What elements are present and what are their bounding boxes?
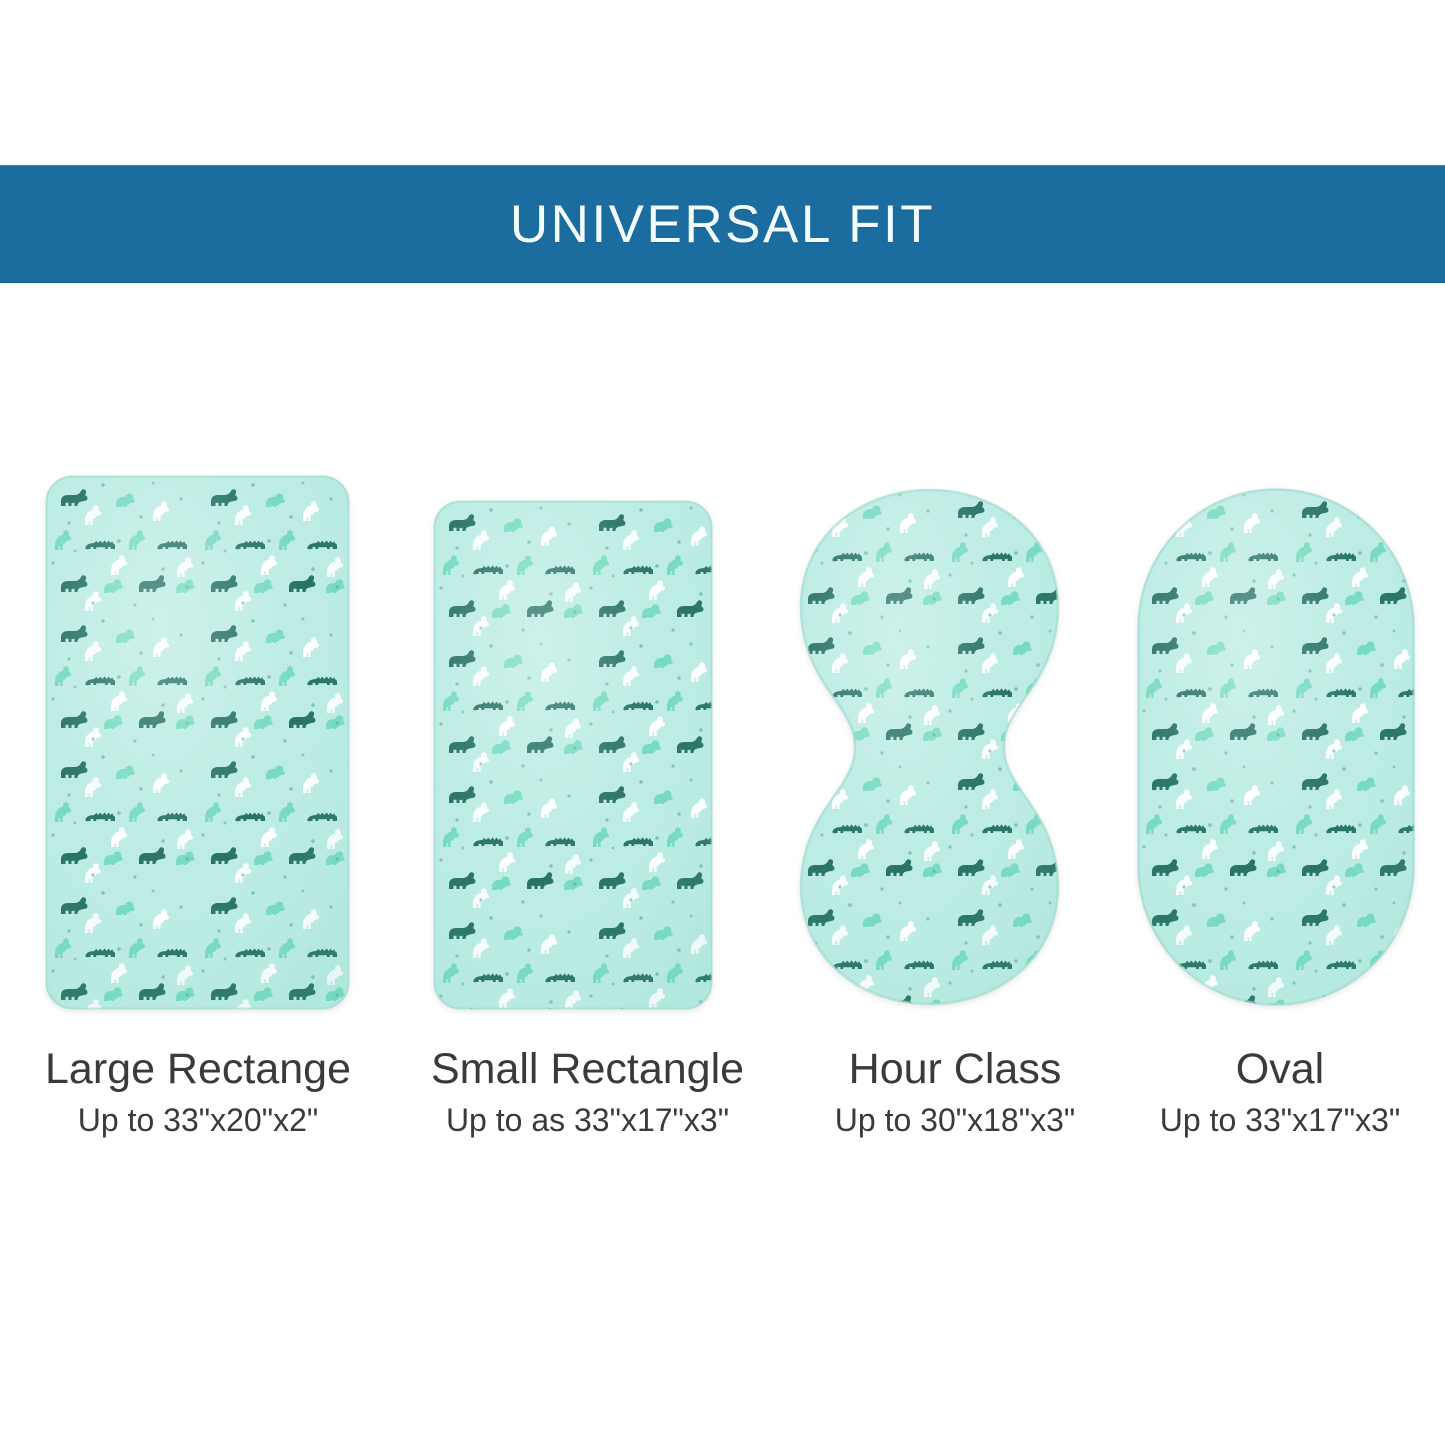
small-rectangle-shape bbox=[433, 500, 713, 1010]
caption-row: Large Rectange Up to 33"x20"x2" Small Re… bbox=[0, 1042, 1445, 1172]
caption-title-oval: Oval bbox=[1130, 1042, 1430, 1096]
caption-title-large-rectangle: Large Rectange bbox=[18, 1042, 378, 1096]
product-large-rectangle[interactable] bbox=[45, 475, 350, 1010]
product-oval[interactable] bbox=[1136, 487, 1416, 1007]
caption-size-large-rectangle: Up to 33"x20"x2" bbox=[18, 1098, 378, 1142]
oval-shape bbox=[1136, 487, 1416, 1007]
hourglass-shape bbox=[792, 487, 1067, 1007]
product-shape-row bbox=[0, 455, 1445, 1015]
caption-small-rectangle: Small Rectangle Up to as 33"x17"x3" bbox=[395, 1042, 780, 1142]
product-hour-class[interactable] bbox=[792, 487, 1067, 1007]
caption-hour-class: Hour Class Up to 30"x18"x3" bbox=[790, 1042, 1120, 1142]
caption-large-rectangle: Large Rectange Up to 33"x20"x2" bbox=[18, 1042, 378, 1142]
product-small-rectangle[interactable] bbox=[433, 500, 713, 1010]
header-banner: UNIVERSAL FIT bbox=[0, 165, 1445, 283]
caption-title-small-rectangle: Small Rectangle bbox=[395, 1042, 780, 1096]
infographic-page: UNIVERSAL FIT bbox=[0, 0, 1445, 1445]
caption-size-small-rectangle: Up to as 33"x17"x3" bbox=[395, 1098, 780, 1142]
page-title: UNIVERSAL FIT bbox=[510, 198, 935, 251]
large-rectangle-shape bbox=[45, 475, 350, 1010]
caption-title-hour-class: Hour Class bbox=[790, 1042, 1120, 1096]
caption-oval: Oval Up to 33"x17"x3" bbox=[1130, 1042, 1430, 1142]
caption-size-oval: Up to 33"x17"x3" bbox=[1130, 1098, 1430, 1142]
caption-size-hour-class: Up to 30"x18"x3" bbox=[790, 1098, 1120, 1142]
